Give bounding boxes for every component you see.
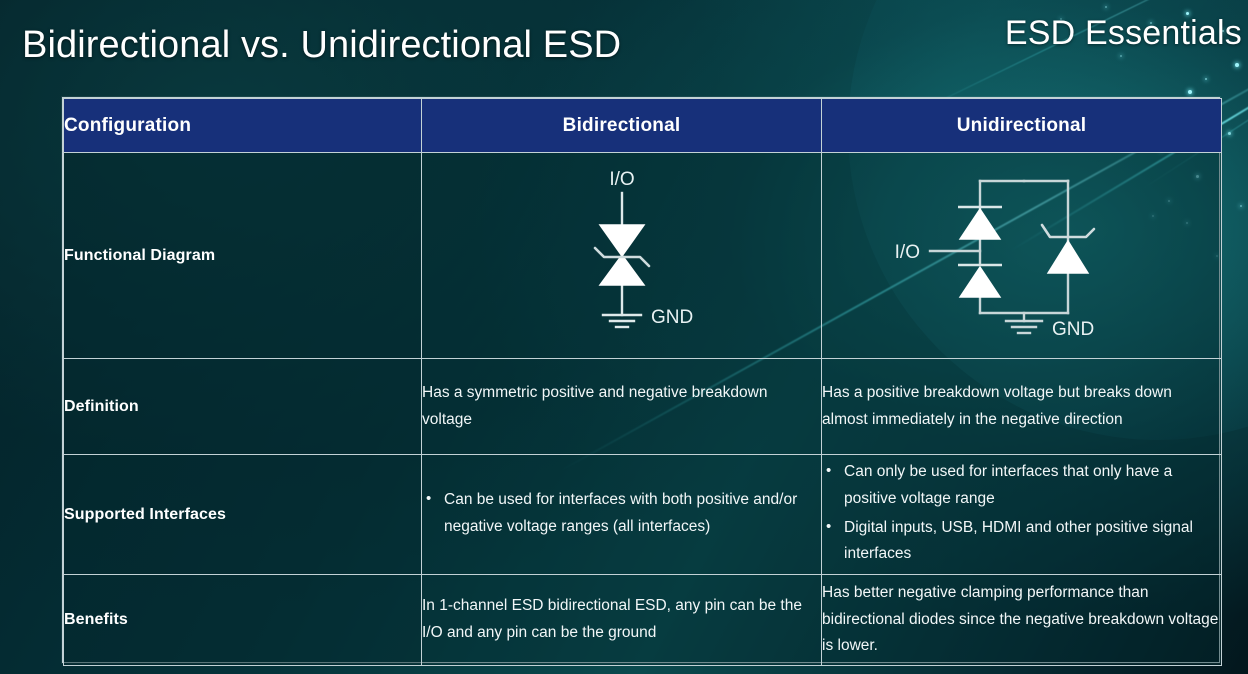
sparkle-dot bbox=[1228, 132, 1231, 135]
slide-series-label: ESD Essentials bbox=[1005, 14, 1242, 53]
gnd-label: GND bbox=[1052, 319, 1094, 340]
list-item: Can only be used for interfaces that onl… bbox=[822, 459, 1221, 512]
io-label: I/O bbox=[894, 242, 919, 263]
bullet-list: Can only be used for interfaces that onl… bbox=[822, 459, 1221, 568]
sparkle-dot bbox=[1188, 90, 1192, 94]
sparkle-dot bbox=[1240, 205, 1242, 207]
row-label-definition: Definition bbox=[64, 359, 422, 455]
zener-triangle-lower bbox=[600, 255, 644, 285]
page-title: Bidirectional vs. Unidirectional ESD bbox=[22, 24, 621, 67]
slide-canvas: Bidirectional vs. Unidirectional ESD ESD… bbox=[0, 0, 1248, 674]
sparkle-dot bbox=[1235, 63, 1239, 67]
column-header-bidirectional: Bidirectional bbox=[422, 99, 822, 153]
io-label: I/O bbox=[609, 169, 634, 190]
comparison-table: Configuration Bidirectional Unidirection… bbox=[63, 98, 1222, 666]
cell-supported-bidirectional: Can be used for interfaces with both pos… bbox=[422, 455, 822, 575]
steering-diode-lower bbox=[960, 267, 1000, 297]
steering-diode-upper bbox=[960, 209, 1000, 239]
table-row: Benefits In 1-channel ESD bidirectional … bbox=[64, 575, 1222, 666]
table-header-row: Configuration Bidirectional Unidirection… bbox=[64, 99, 1222, 153]
row-label-benefits: Benefits bbox=[64, 575, 422, 666]
comparison-table-container: Configuration Bidirectional Unidirection… bbox=[62, 97, 1220, 663]
sparkle-dot bbox=[1205, 78, 1207, 80]
bidirectional-esd-circuit-icon: I/O GND bbox=[507, 163, 737, 348]
table-row: Supported Interfaces Can be used for int… bbox=[64, 455, 1222, 575]
sparkle-dot bbox=[1120, 55, 1122, 57]
table-header: Configuration Bidirectional Unidirection… bbox=[64, 99, 1222, 153]
table-row: Functional Diagram bbox=[64, 153, 1222, 359]
bullet-list: Can be used for interfaces with both pos… bbox=[422, 487, 821, 540]
sparkle-dot bbox=[1105, 6, 1107, 8]
table-body: Functional Diagram bbox=[64, 153, 1222, 666]
zener-diode-right bbox=[1048, 241, 1088, 273]
row-label-supported-interfaces: Supported Interfaces bbox=[64, 455, 422, 575]
cell-unidirectional-diagram: I/O GND bbox=[822, 153, 1222, 359]
list-item: Digital inputs, USB, HDMI and other posi… bbox=[822, 515, 1221, 568]
unidirectional-esd-circuit-icon: I/O GND bbox=[872, 163, 1172, 348]
zener-triangle-upper bbox=[600, 225, 644, 256]
cell-supported-unidirectional: Can only be used for interfaces that onl… bbox=[822, 455, 1222, 575]
cell-definition-unidirectional: Has a positive breakdown voltage but bre… bbox=[822, 359, 1222, 455]
cell-bidirectional-diagram: I/O GND bbox=[422, 153, 822, 359]
table-row: Definition Has a symmetric positive and … bbox=[64, 359, 1222, 455]
row-label-functional-diagram: Functional Diagram bbox=[64, 153, 422, 359]
cell-benefits-bidirectional: In 1-channel ESD bidirectional ESD, any … bbox=[422, 575, 822, 666]
list-item: Can be used for interfaces with both pos… bbox=[422, 487, 821, 540]
cell-definition-bidirectional: Has a symmetric positive and negative br… bbox=[422, 359, 822, 455]
column-header-unidirectional: Unidirectional bbox=[822, 99, 1222, 153]
column-header-configuration: Configuration bbox=[64, 99, 422, 153]
gnd-label: GND bbox=[651, 307, 693, 328]
cell-benefits-unidirectional: Has better negative clamping performance… bbox=[822, 575, 1222, 666]
